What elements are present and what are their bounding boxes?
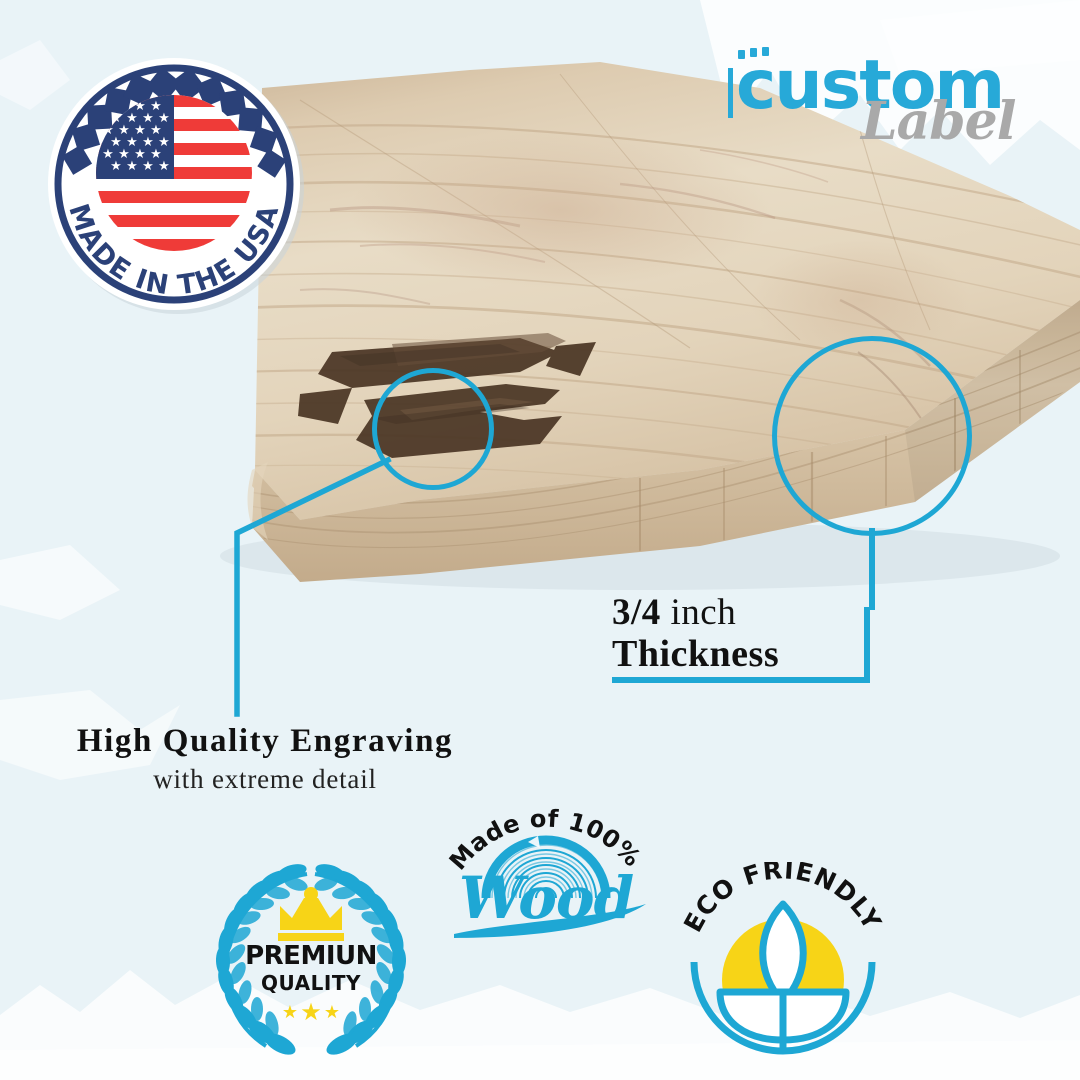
thickness-callout-ring — [772, 336, 972, 536]
leaf-plant-sun-icon: ECO FRIENDLY — [672, 862, 894, 1062]
thickness-unit: inch — [671, 592, 737, 633]
vertical-bar-icon — [728, 68, 733, 118]
usa-flag-seal-icon: ★★★★ ★★★★ ★★★★ ★★★★ ★★★★ ★★★★ MADE IN TH… — [38, 48, 310, 320]
premium-line2: QUALITY — [261, 971, 361, 995]
three-stars-icon: ★ ★ ★ — [282, 998, 340, 1026]
engraving-callout-text: High Quality Engraving with extreme deta… — [30, 722, 500, 797]
svg-text:★: ★ — [110, 159, 122, 174]
brand-logo[interactable]: custom Label — [706, 44, 1036, 154]
badge-eco-friendly: ECO FRIENDLY — [672, 862, 894, 1067]
laurel-wreath-crown-icon: PREMIUN QUALITY ★ ★ ★ — [204, 858, 418, 1058]
premium-line1: PREMIUN — [245, 941, 377, 971]
thickness-value: 3/4 — [612, 592, 661, 633]
badge-premium-quality: PREMIUN QUALITY ★ ★ ★ — [204, 858, 418, 1063]
svg-text:★: ★ — [282, 1002, 298, 1023]
svg-text:★: ★ — [126, 159, 138, 174]
svg-text:★: ★ — [324, 1002, 340, 1023]
badge-made-of-wood: Made of 100% Wood — [432, 786, 660, 951]
engraving-headline: High Quality Engraving — [30, 722, 500, 762]
wood-grain-rings-icon: Made of 100% Wood — [432, 786, 660, 946]
thickness-underline — [612, 677, 870, 683]
infographic-canvas: High Quality Engraving with extreme deta… — [0, 0, 1080, 1080]
svg-text:★: ★ — [158, 159, 170, 174]
svg-text:★: ★ — [142, 159, 154, 174]
badge-made-in-usa: ★★★★ ★★★★ ★★★★ ★★★★ ★★★★ ★★★★ MADE IN TH… — [38, 48, 310, 325]
engraving-subline: with extreme detail — [30, 762, 500, 797]
svg-text:★: ★ — [300, 998, 322, 1026]
thickness-bracket-vertical — [864, 607, 870, 683]
brand-name-secondary: Label — [861, 96, 1015, 148]
